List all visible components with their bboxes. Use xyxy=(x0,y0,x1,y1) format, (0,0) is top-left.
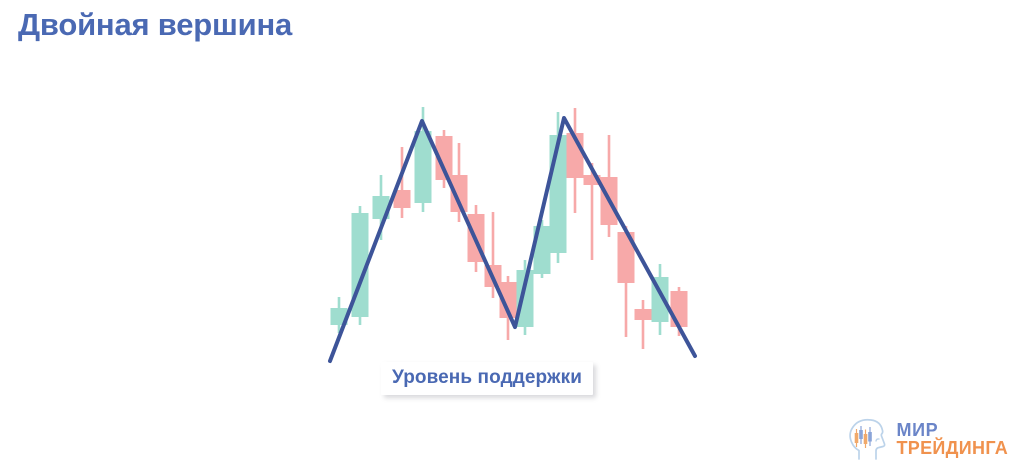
support-level-label: Уровень поддержки xyxy=(381,362,593,395)
candlestick xyxy=(517,260,534,335)
candlestick xyxy=(331,297,348,333)
logo-line-2: ТРЕЙДИНГА xyxy=(897,439,1008,457)
candlestick xyxy=(550,112,567,263)
logo-line-1: МИР xyxy=(897,421,1008,439)
candle-body xyxy=(671,291,688,327)
candlestick xyxy=(451,143,468,222)
candlestick xyxy=(635,300,652,349)
pattern-trendline xyxy=(330,118,695,361)
chart-canvas xyxy=(0,0,1024,473)
candle-body xyxy=(550,135,567,253)
candle-wick xyxy=(642,300,645,349)
candle-body xyxy=(635,309,652,320)
logo-wordmark: МИР ТРЕЙДИНГА xyxy=(897,421,1008,458)
head-candlestick-icon xyxy=(846,417,888,461)
trendline-layer xyxy=(330,118,695,361)
brand-logo: МИР ТРЕЙДИНГА xyxy=(846,417,1008,461)
candlestick-chart xyxy=(0,0,1024,473)
candlestick xyxy=(485,212,502,298)
